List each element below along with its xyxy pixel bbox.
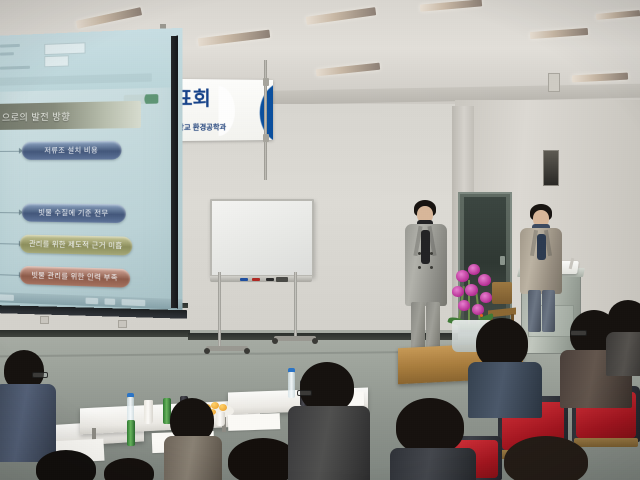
eyeglasses-icon <box>297 390 312 396</box>
audience-member <box>0 350 58 460</box>
whiteboard-caster <box>272 338 278 344</box>
slide-node-label: 빗물 수질에 기준 전무 <box>38 208 108 219</box>
audience-member <box>104 458 156 480</box>
torso <box>164 436 222 480</box>
loudspeaker-icon <box>543 150 559 186</box>
audience-member <box>392 398 472 480</box>
berry-accent <box>480 314 483 317</box>
torso <box>288 406 370 480</box>
slide-text-line <box>0 66 30 70</box>
slide-node-label: 저류조 설치 비용 <box>44 145 98 156</box>
slide-text-line <box>0 44 20 48</box>
whiteboard-caster <box>204 348 210 354</box>
orchid-bloom <box>480 292 492 303</box>
orchid-bloom <box>468 264 480 275</box>
audience-member <box>36 450 98 480</box>
slide-node-label: 관리를 위한 제도적 근거 미흡 <box>29 239 123 251</box>
audience-member <box>504 436 590 480</box>
slide-node: 빗물 수질에 기준 전무 <box>22 203 126 223</box>
whiteboard-stand-foot <box>274 336 316 341</box>
slide-connector <box>0 212 20 213</box>
slide-header-area <box>0 28 183 92</box>
coat-button <box>430 266 433 269</box>
eyeglasses-icon <box>570 330 587 336</box>
whiteboard-stand-leg <box>218 272 221 348</box>
head <box>396 398 464 454</box>
inner-top <box>537 234 546 260</box>
slide-connector <box>0 151 20 152</box>
audience-member <box>470 318 542 414</box>
taskbar-item <box>0 294 14 301</box>
photograph-lecture-hall: 발표회 표회 대구대학교 환경공학과 으로의 발전 방향 <box>0 0 640 480</box>
torso <box>468 362 542 418</box>
whiteboard-caster <box>312 338 318 344</box>
slide-title-text: 으로의 발전 방향 <box>0 101 141 124</box>
whiteboard-eraser <box>276 277 288 282</box>
head <box>608 300 640 336</box>
head <box>104 458 154 480</box>
banner-clip <box>263 78 269 86</box>
head <box>476 318 528 368</box>
bottle-cap <box>127 393 134 397</box>
trousers <box>542 290 555 332</box>
baseboard <box>0 330 190 337</box>
inner-top <box>421 230 430 264</box>
taskbar-item <box>86 298 99 305</box>
whiteboard-marker <box>252 278 260 281</box>
slide-text-line <box>0 52 14 56</box>
head <box>504 436 588 480</box>
whiteboard-stand-foot <box>206 346 248 351</box>
whiteboard-marker <box>240 278 248 281</box>
coat-button <box>418 266 421 269</box>
orchid-bloom <box>452 286 464 297</box>
head <box>36 450 96 480</box>
coat-button <box>430 252 433 255</box>
whiteboard <box>210 199 314 277</box>
whiteboard-marker <box>266 278 274 281</box>
slide-title-bar: 으로의 발전 방향 <box>0 101 141 130</box>
audience-member <box>168 398 218 480</box>
slide-node: 관리를 위한 제도적 근거 미흡 <box>20 235 132 256</box>
taskbar-item <box>105 298 116 305</box>
torso <box>606 332 640 376</box>
wall-outlet <box>118 320 127 328</box>
slide-connector <box>0 243 20 245</box>
head <box>300 362 354 412</box>
green-bottle <box>127 420 135 446</box>
slide-node: 빗물 관리를 위한 인력 부족 <box>20 266 130 288</box>
slide-connector <box>0 274 20 276</box>
slide-node: 저류조 설치 비용 <box>22 141 122 160</box>
orchid-bloom <box>456 270 469 282</box>
taskbar-item <box>122 299 146 306</box>
audience-member <box>608 300 640 370</box>
slide-input-box <box>44 42 85 55</box>
eyeglasses-icon <box>32 372 48 378</box>
screen-right-edge <box>171 36 178 309</box>
trousers <box>411 302 425 350</box>
slide-row-divider <box>0 73 152 86</box>
whiteboard-caster <box>244 348 250 354</box>
orchid-bloom <box>478 274 491 286</box>
whiteboard-stand-leg <box>294 272 297 338</box>
projection-screen: 으로의 발전 방향 저류조 설치 비용 빗물 수질에 기준 전무 관리를 위한 … <box>0 36 174 308</box>
screen-surface: 으로의 발전 방향 저류조 설치 비용 빗물 수질에 기준 전무 관리를 위한 … <box>0 28 183 316</box>
wall-outlet <box>40 316 49 324</box>
slide-input-box <box>44 55 69 67</box>
orchid-bloom <box>465 284 478 296</box>
audience-member <box>292 362 364 480</box>
paper-cup <box>144 400 153 424</box>
torso <box>390 448 476 480</box>
tangerine-slice <box>219 404 227 411</box>
standing-presenter-left <box>402 200 450 356</box>
coat-button <box>418 252 421 255</box>
trousers <box>426 302 440 350</box>
slide-node-label: 빗물 관리를 위한 인력 부족 <box>31 270 117 283</box>
orchid-bloom <box>458 300 470 311</box>
wall-junction-box <box>548 73 560 92</box>
banner-clip <box>263 134 269 142</box>
handout-paper <box>228 413 281 431</box>
